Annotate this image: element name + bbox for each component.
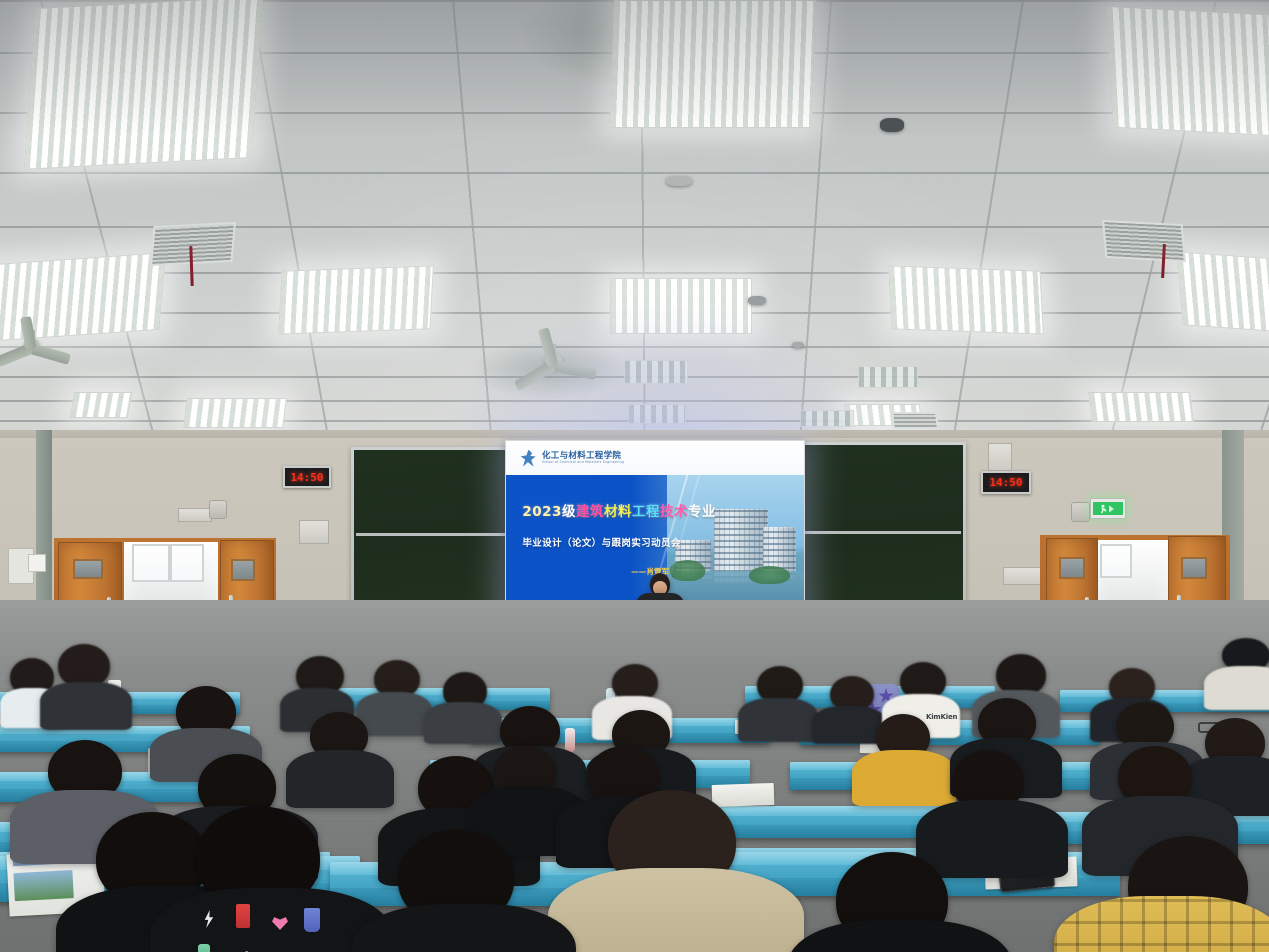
sticker-drink-cup-icon: [304, 908, 320, 932]
ceiling: [0, 0, 1269, 452]
kimkien-shirt-text: KimKien: [926, 714, 957, 721]
corridor-window: [132, 544, 170, 582]
handout-paper: [712, 783, 775, 807]
wall-panel: [299, 520, 329, 544]
student-torso-foreground: [548, 868, 804, 952]
sticker-soda-can-icon: [236, 904, 250, 928]
wall-speaker: [1071, 502, 1090, 522]
student-torso-foreground: [352, 904, 576, 952]
student-torso: [40, 682, 132, 730]
student-torso-foreground: [788, 920, 1012, 952]
ceiling-shading: [0, 0, 1269, 452]
slide-title: 2023级建筑材料工程技术专业: [522, 500, 716, 520]
student-torso: [424, 702, 502, 744]
student-torso: [1204, 666, 1269, 710]
water-bottle-desk: [565, 728, 575, 752]
wall-notice: [28, 554, 46, 572]
slide-subtitle: 毕业设计（论文）与跟岗实习动员会: [522, 535, 680, 549]
slide-header: 化工与材料工程学院 School of Chemical and Materia…: [506, 441, 804, 475]
corridor-window: [170, 544, 204, 582]
wall-speaker: [209, 500, 227, 519]
student-torso: [812, 706, 886, 744]
seating-area: KimKien SUP: [0, 600, 1269, 952]
wall-outlet-box: [178, 508, 212, 522]
exit-sign: [1090, 498, 1126, 519]
student-torso-foreground-plaid: [1054, 896, 1269, 952]
classroom-photo-scene: 化工与材料工程学院 School of Chemical and Materia…: [0, 0, 1269, 952]
sticker-heart-icon: [272, 916, 288, 930]
student-torso: [916, 800, 1068, 878]
school-emblem-icon: [520, 450, 537, 467]
wall-top-band: [0, 430, 1269, 438]
digital-clock-right: 14:50: [981, 471, 1031, 494]
corridor-window: [1100, 544, 1132, 578]
exit-running-man-icon: [1093, 502, 1123, 515]
sticker-bottle-icon: [198, 944, 210, 952]
sticker-lightning-icon: [202, 910, 216, 928]
student-torso: [356, 692, 432, 736]
slide-institution-name: 化工与材料工程学院 School of Chemical and Materia…: [542, 452, 624, 464]
wall-panel: [988, 443, 1012, 471]
student-torso: [286, 750, 394, 808]
student-torso: [852, 750, 956, 806]
student-torso: [738, 698, 818, 742]
digital-clock-left: 14:50: [283, 466, 331, 488]
